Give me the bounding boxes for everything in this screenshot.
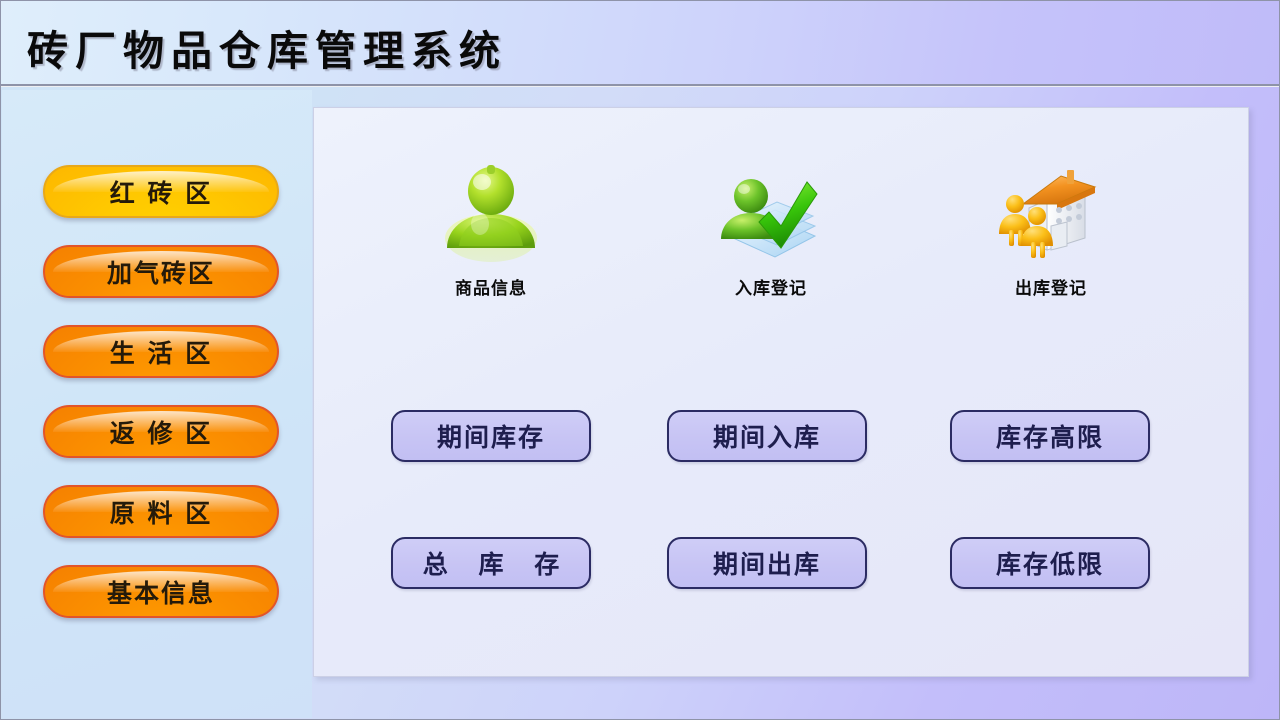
page-title: 砖厂物品仓库管理系统: [27, 17, 507, 77]
tile-label: 商品信息: [396, 274, 586, 299]
period-stock-button[interactable]: 期间库存: [391, 410, 591, 462]
stock-low-limit-button[interactable]: 库存低限: [950, 537, 1150, 589]
sidebar-item-label: 红 砖 区: [110, 174, 212, 210]
sidebar-item-rework-zone[interactable]: 返 修 区: [43, 405, 279, 458]
tile-label: 出库登记: [956, 274, 1146, 299]
app-header: 砖厂物品仓库管理系统: [1, 1, 1279, 87]
button-label: 库存低限: [996, 545, 1104, 581]
main-content-panel: 商品信息: [313, 107, 1249, 677]
sidebar-item-label: 原 料 区: [110, 494, 212, 530]
sidebar-item-aerated-brick-zone[interactable]: 加气砖区: [43, 245, 279, 298]
tile-outbound-registration[interactable]: 出库登记: [956, 160, 1146, 299]
button-label: 总 库 存: [412, 545, 570, 581]
sidebar-item-label: 基本信息: [107, 574, 215, 610]
sidebar-item-raw-material-zone[interactable]: 原 料 区: [43, 485, 279, 538]
sidebar-item-red-brick-zone[interactable]: 红 砖 区: [43, 165, 279, 218]
button-label: 期间入库: [713, 418, 821, 454]
sidebar-item-label: 加气砖区: [107, 254, 215, 290]
period-outbound-button[interactable]: 期间出库: [667, 537, 867, 589]
sidebar-item-label: 生 活 区: [110, 334, 212, 370]
total-stock-button[interactable]: 总 库 存: [391, 537, 591, 589]
sidebar-item-living-zone[interactable]: 生 活 区: [43, 325, 279, 378]
sidebar: 红 砖 区 加气砖区 生 活 区 返 修 区 原 料 区 基本信息: [2, 90, 312, 718]
tile-inbound-registration[interactable]: 入库登记: [676, 160, 866, 299]
sidebar-item-label: 返 修 区: [110, 414, 212, 450]
button-label: 期间出库: [713, 545, 821, 581]
tile-product-info[interactable]: 商品信息: [396, 160, 586, 299]
period-inbound-button[interactable]: 期间入库: [667, 410, 867, 462]
stock-high-limit-button[interactable]: 库存高限: [950, 410, 1150, 462]
application-window: 砖厂物品仓库管理系统 红 砖 区 加气砖区 生 活 区 返 修 区 原 料 区 …: [0, 0, 1280, 720]
button-label: 库存高限: [996, 418, 1104, 454]
person-check-inbound-icon: [711, 160, 831, 268]
sidebar-item-basic-info[interactable]: 基本信息: [43, 565, 279, 618]
warehouse-people-outbound-icon: [991, 160, 1111, 268]
button-label: 期间库存: [437, 418, 545, 454]
green-person-icon: [431, 160, 551, 268]
tile-label: 入库登记: [676, 274, 866, 299]
